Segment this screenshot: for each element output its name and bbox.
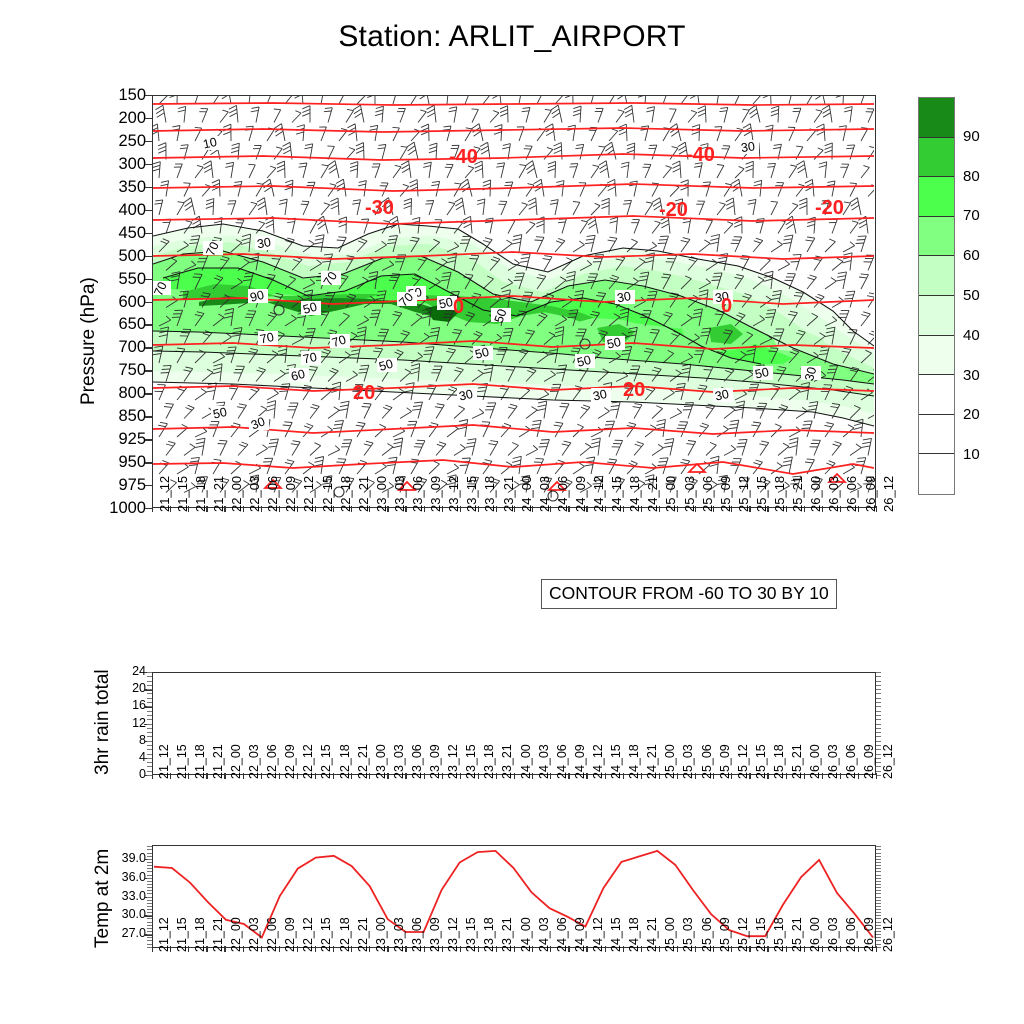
time-tick bbox=[840, 946, 841, 952]
time-tick bbox=[623, 773, 624, 779]
time-tick bbox=[514, 773, 515, 779]
time-tick bbox=[858, 773, 859, 779]
time-tick-label: 26_06 bbox=[844, 744, 858, 779]
time-tick bbox=[514, 506, 515, 512]
colorbar-band[interactable] bbox=[919, 98, 954, 138]
svg-text:0: 0 bbox=[721, 295, 732, 317]
time-tick bbox=[478, 773, 479, 779]
time-tick-label: 24_12 bbox=[591, 744, 605, 779]
time-tick-label: 23_21 bbox=[500, 917, 514, 952]
time-tick-label: 23_21 bbox=[500, 744, 514, 779]
time-tick bbox=[387, 773, 388, 779]
time-tick-label: 23_03 bbox=[392, 744, 406, 779]
svg-text:70: 70 bbox=[259, 330, 276, 347]
time-tick-label: 26_12 bbox=[881, 917, 895, 952]
page-title: Station: ARLIT_AIRPORT bbox=[0, 20, 1024, 54]
temp-tick-label: 36.0 bbox=[86, 871, 146, 884]
svg-text:30: 30 bbox=[592, 387, 609, 404]
time-tick bbox=[279, 506, 280, 512]
temp-tick-label: 30.0 bbox=[86, 908, 146, 921]
time-tick bbox=[424, 946, 425, 952]
colorbar-band[interactable] bbox=[919, 138, 954, 178]
time-tick bbox=[496, 773, 497, 779]
rain-minor-tick bbox=[147, 762, 152, 763]
time-tick-label: 22_03 bbox=[247, 917, 261, 952]
time-tick-label: 22_15 bbox=[319, 917, 333, 952]
time-tick-label: 22_18 bbox=[338, 744, 352, 779]
time-tick-label: 24_03 bbox=[537, 744, 551, 779]
time-tick bbox=[550, 506, 551, 512]
pressure-tick-label: 500 bbox=[88, 248, 146, 265]
temp-minor-tick bbox=[147, 890, 152, 891]
time-tick-label: 26_06 bbox=[844, 917, 858, 952]
temp-minor-tick bbox=[876, 846, 881, 847]
pressure-tick bbox=[145, 439, 152, 440]
time-tick bbox=[424, 506, 425, 512]
time-tick bbox=[876, 946, 877, 952]
time-tick bbox=[405, 506, 406, 512]
time-tick bbox=[731, 946, 732, 952]
temp-minor-tick bbox=[147, 906, 152, 907]
temp-minor-tick bbox=[147, 897, 152, 898]
time-tick-label: 24_21 bbox=[645, 744, 659, 779]
temp-minor-tick bbox=[147, 937, 152, 938]
time-tick-label: 24_06 bbox=[555, 744, 569, 779]
time-tick-label: 24_15 bbox=[609, 917, 623, 952]
colorbar-band[interactable] bbox=[919, 336, 954, 376]
time-tick bbox=[659, 946, 660, 952]
temp-minor-tick bbox=[147, 934, 152, 935]
rain-minor-tick bbox=[147, 719, 152, 720]
time-tick bbox=[188, 506, 189, 512]
time-tick bbox=[315, 773, 316, 779]
time-tick-label: 26_00 bbox=[808, 917, 822, 952]
time-tick-label: 24_21 bbox=[645, 917, 659, 952]
rain-tick-label: 4 bbox=[96, 751, 146, 764]
time-tick bbox=[659, 773, 660, 779]
time-tick bbox=[858, 506, 859, 512]
temp-minor-tick bbox=[147, 944, 152, 945]
colorbar-tick-label: 40 bbox=[963, 327, 980, 344]
temp-minor-tick bbox=[147, 856, 152, 857]
time-tick bbox=[351, 506, 352, 512]
temp-minor-tick bbox=[147, 878, 152, 879]
temp-minor-tick bbox=[876, 856, 881, 857]
colorbar-band[interactable] bbox=[919, 454, 954, 494]
rain-minor-tick bbox=[876, 702, 881, 703]
time-tick-label: 22_00 bbox=[229, 917, 243, 952]
colorbar-tick-label: 10 bbox=[963, 446, 980, 463]
rain-minor-tick bbox=[876, 741, 881, 742]
time-tick bbox=[152, 506, 153, 512]
pressure-tick bbox=[145, 393, 152, 394]
temp-minor-tick bbox=[876, 865, 881, 866]
time-tick-label: 23_18 bbox=[482, 744, 496, 779]
pressure-tick bbox=[145, 187, 152, 188]
rain-minor-tick bbox=[147, 711, 152, 712]
temp-tick-label: 39.0 bbox=[86, 852, 146, 865]
svg-text:-40: -40 bbox=[449, 146, 478, 168]
temp-minor-tick bbox=[147, 887, 152, 888]
temp-minor-tick bbox=[876, 862, 881, 863]
time-tick-label: 25_00 bbox=[663, 917, 677, 952]
rain-minor-tick bbox=[147, 736, 152, 737]
time-tick bbox=[206, 773, 207, 779]
time-tick-label: 21_18 bbox=[193, 917, 207, 952]
pressure-tick bbox=[145, 256, 152, 257]
temp-minor-tick bbox=[876, 903, 881, 904]
time-tick bbox=[749, 506, 750, 512]
time-tick-label: 25_06 bbox=[700, 744, 714, 779]
time-tick bbox=[405, 773, 406, 779]
time-tick bbox=[695, 946, 696, 952]
temp-minor-tick bbox=[876, 853, 881, 854]
temp-minor-tick bbox=[876, 897, 881, 898]
temp-minor-tick bbox=[147, 846, 152, 847]
temp-minor-tick bbox=[147, 859, 152, 860]
pressure-tick bbox=[145, 416, 152, 417]
pressure-tick-label: 450 bbox=[88, 225, 146, 242]
time-tick bbox=[677, 946, 678, 952]
svg-text:50: 50 bbox=[438, 295, 455, 312]
time-tick-label: 24_09 bbox=[573, 917, 587, 952]
svg-text:-20: -20 bbox=[815, 197, 844, 219]
time-tick-label: 23_06 bbox=[410, 744, 424, 779]
colorbar-tick-label: 30 bbox=[963, 367, 980, 384]
sounding-time-section-plot[interactable]: 10 90 50 70 30 70 70 50 70 70 70 70 50 5… bbox=[152, 95, 876, 508]
rain-minor-tick bbox=[876, 728, 881, 729]
time-tick bbox=[804, 773, 805, 779]
time-tick bbox=[460, 773, 461, 779]
time-tick bbox=[731, 506, 732, 512]
time-tick bbox=[460, 506, 461, 512]
temp-minor-tick bbox=[876, 875, 881, 876]
time-tick-label: 25_21 bbox=[790, 744, 804, 779]
time-tick bbox=[496, 506, 497, 512]
svg-text:20: 20 bbox=[353, 382, 375, 404]
pressure-tick bbox=[145, 233, 152, 234]
time-tick bbox=[786, 946, 787, 952]
time-tick bbox=[586, 773, 587, 779]
time-tick bbox=[713, 946, 714, 952]
time-tick bbox=[514, 946, 515, 952]
time-tick bbox=[315, 506, 316, 512]
time-tick bbox=[876, 506, 877, 512]
time-tick-label: 23_00 bbox=[374, 744, 388, 779]
time-tick bbox=[568, 946, 569, 952]
time-tick-label: 23_18 bbox=[482, 917, 496, 952]
time-tick bbox=[822, 506, 823, 512]
svg-text:30: 30 bbox=[616, 289, 632, 305]
time-tick bbox=[695, 506, 696, 512]
time-tick bbox=[170, 773, 171, 779]
rain-minor-tick bbox=[147, 715, 152, 716]
time-tick-label: 22_21 bbox=[356, 917, 370, 952]
temp-minor-tick bbox=[876, 878, 881, 879]
time-tick-label: 23_15 bbox=[464, 744, 478, 779]
pressure-tick-label: 400 bbox=[88, 202, 146, 219]
time-tick bbox=[767, 506, 768, 512]
rain-minor-tick bbox=[147, 693, 152, 694]
rain-minor-tick bbox=[147, 732, 152, 733]
time-tick bbox=[840, 773, 841, 779]
svg-text:10: 10 bbox=[202, 135, 219, 152]
time-tick-label: 22_12 bbox=[301, 744, 315, 779]
rain-minor-tick bbox=[147, 758, 152, 759]
temp-tick-label: 27.0 bbox=[86, 927, 146, 940]
temp-minor-tick bbox=[876, 868, 881, 869]
time-tick-label: 21_12 bbox=[157, 744, 171, 779]
time-tick bbox=[532, 506, 533, 512]
time-tick bbox=[677, 773, 678, 779]
svg-text:30: 30 bbox=[714, 387, 731, 404]
pressure-tick bbox=[145, 347, 152, 348]
temp-minor-tick bbox=[147, 871, 152, 872]
time-tick bbox=[804, 506, 805, 512]
time-tick bbox=[840, 506, 841, 512]
temp-minor-tick bbox=[147, 925, 152, 926]
time-tick bbox=[822, 773, 823, 779]
time-tick bbox=[279, 773, 280, 779]
time-tick bbox=[568, 773, 569, 779]
time-tick bbox=[152, 773, 153, 779]
rain-minor-tick bbox=[147, 749, 152, 750]
colorbar-band[interactable] bbox=[919, 375, 954, 415]
time-tick-label: 21_18 bbox=[193, 744, 207, 779]
rain-tick-label: 0 bbox=[96, 768, 146, 781]
colorbar-tick-label: 50 bbox=[963, 287, 980, 304]
pressure-tick-label: 300 bbox=[88, 156, 146, 173]
temp-minor-tick bbox=[147, 868, 152, 869]
time-tick bbox=[224, 506, 225, 512]
svg-text:20: 20 bbox=[623, 379, 645, 401]
time-tick bbox=[478, 506, 479, 512]
time-tick bbox=[478, 946, 479, 952]
colorbar-band[interactable] bbox=[919, 217, 954, 257]
time-tick bbox=[261, 946, 262, 952]
time-tick-label: 26_12 bbox=[881, 744, 895, 779]
time-tick bbox=[804, 946, 805, 952]
temp-minor-tick bbox=[876, 893, 881, 894]
temp-minor-tick bbox=[147, 875, 152, 876]
time-tick-label: 25_09 bbox=[718, 917, 732, 952]
temp-minor-tick bbox=[147, 865, 152, 866]
colorbar-tick-label: 70 bbox=[963, 207, 980, 224]
time-tick bbox=[605, 773, 606, 779]
time-tick bbox=[659, 506, 660, 512]
time-tick bbox=[749, 773, 750, 779]
time-tick-label: 22_12 bbox=[301, 917, 315, 952]
rain-minor-tick bbox=[147, 685, 152, 686]
time-tick-label: 23_12 bbox=[446, 744, 460, 779]
time-tick bbox=[568, 506, 569, 512]
rain-minor-tick bbox=[876, 672, 881, 673]
colorbar-band[interactable] bbox=[919, 256, 954, 296]
time-tick-label: 22_21 bbox=[356, 744, 370, 779]
temp-minor-tick bbox=[147, 903, 152, 904]
temp-minor-tick bbox=[147, 928, 152, 929]
time-tick bbox=[442, 773, 443, 779]
time-tick-label: 24_12 bbox=[591, 917, 605, 952]
time-tick-label: 25_15 bbox=[754, 917, 768, 952]
temp-minor-tick bbox=[147, 862, 152, 863]
time-tick-label: 23_06 bbox=[410, 917, 424, 952]
svg-text:-30: -30 bbox=[365, 197, 394, 219]
time-tick bbox=[767, 946, 768, 952]
time-tick bbox=[170, 506, 171, 512]
time-tick bbox=[605, 506, 606, 512]
pressure-tick-label: 925 bbox=[88, 431, 146, 448]
time-tick bbox=[749, 946, 750, 952]
time-tick bbox=[767, 773, 768, 779]
time-tick bbox=[333, 506, 334, 512]
pressure-tick bbox=[145, 164, 152, 165]
humidity-colorbar[interactable] bbox=[918, 97, 955, 495]
time-tick bbox=[315, 946, 316, 952]
time-tick bbox=[387, 506, 388, 512]
rain-minor-tick bbox=[876, 736, 881, 737]
time-tick bbox=[496, 946, 497, 952]
rain-minor-tick bbox=[147, 745, 152, 746]
rain-minor-tick bbox=[876, 711, 881, 712]
time-tick bbox=[713, 506, 714, 512]
time-tick-label: 24_18 bbox=[627, 744, 641, 779]
pressure-tick bbox=[145, 141, 152, 142]
svg-text:0: 0 bbox=[453, 296, 464, 318]
pressure-tick-label: 250 bbox=[88, 133, 146, 150]
time-tick-label: 25_00 bbox=[663, 744, 677, 779]
temp-minor-tick bbox=[876, 900, 881, 901]
time-tick bbox=[206, 946, 207, 952]
time-tick bbox=[641, 506, 642, 512]
time-tick bbox=[351, 773, 352, 779]
rain-minor-tick bbox=[147, 724, 152, 725]
time-tick bbox=[623, 946, 624, 952]
time-tick-label: 26_03 bbox=[826, 917, 840, 952]
time-tick-label: 22_03 bbox=[247, 744, 261, 779]
time-tick-label: 23_09 bbox=[428, 917, 442, 952]
time-tick bbox=[586, 506, 587, 512]
pressure-tick bbox=[145, 95, 152, 96]
colorbar-band[interactable] bbox=[919, 296, 954, 336]
temp-minor-tick bbox=[876, 859, 881, 860]
svg-text:50: 50 bbox=[212, 405, 229, 422]
temp-minor-tick bbox=[147, 900, 152, 901]
time-tick bbox=[786, 773, 787, 779]
time-tick bbox=[713, 773, 714, 779]
rain-tick-label: 8 bbox=[96, 734, 146, 747]
time-tick bbox=[858, 946, 859, 952]
svg-text:-20: -20 bbox=[659, 199, 688, 221]
pressure-axis-title: Pressure (hPa) bbox=[78, 277, 100, 405]
time-tick bbox=[532, 946, 533, 952]
rain-minor-tick bbox=[147, 702, 152, 703]
time-tick-label: 24_00 bbox=[519, 917, 533, 952]
temp-minor-tick bbox=[147, 881, 152, 882]
time-tick bbox=[822, 946, 823, 952]
time-tick bbox=[333, 946, 334, 952]
pressure-tick-label: 850 bbox=[88, 408, 146, 425]
temp-tick-label: 33.0 bbox=[86, 890, 146, 903]
pressure-tick bbox=[145, 485, 152, 486]
rain-minor-tick bbox=[147, 676, 152, 677]
time-tick-label: 25_12 bbox=[736, 917, 750, 952]
time-tick-label: 21_12 bbox=[157, 917, 171, 952]
rain-minor-tick bbox=[876, 689, 881, 690]
pressure-tick-label: 350 bbox=[88, 179, 146, 196]
time-tick bbox=[333, 773, 334, 779]
time-tick-label: 25_15 bbox=[754, 744, 768, 779]
time-tick bbox=[442, 946, 443, 952]
temp-minor-tick bbox=[147, 940, 152, 941]
time-tick-label: 25_12 bbox=[736, 744, 750, 779]
time-tick-label: 22_06 bbox=[265, 917, 279, 952]
time-tick-label: 23_09 bbox=[428, 744, 442, 779]
rain-tick-label: 12 bbox=[96, 717, 146, 730]
rain-tick-label: 16 bbox=[96, 699, 146, 712]
time-tick-label: 23_00 bbox=[374, 917, 388, 952]
temp-minor-tick bbox=[876, 871, 881, 872]
temp-minor-tick bbox=[147, 918, 152, 919]
pressure-tick bbox=[145, 302, 152, 303]
time-tick-label: 22_18 bbox=[338, 917, 352, 952]
time-tick bbox=[279, 946, 280, 952]
colorbar-band[interactable] bbox=[919, 177, 954, 217]
temp-minor-tick bbox=[147, 853, 152, 854]
temp-minor-tick bbox=[147, 909, 152, 910]
time-tick-label: 21_15 bbox=[175, 917, 189, 952]
main-plot-canvas: 10 90 50 70 30 70 70 50 70 70 70 70 50 5… bbox=[153, 96, 874, 506]
time-tick-label: 25_03 bbox=[681, 917, 695, 952]
time-tick bbox=[351, 946, 352, 952]
time-tick bbox=[623, 506, 624, 512]
rain-minor-tick bbox=[147, 771, 152, 772]
rain-minor-tick bbox=[147, 689, 152, 690]
temp-minor-tick bbox=[147, 849, 152, 850]
colorbar-band[interactable] bbox=[919, 415, 954, 455]
time-tick bbox=[876, 773, 877, 779]
time-tick-label: 23_03 bbox=[392, 917, 406, 952]
time-tick-label: 22_09 bbox=[283, 744, 297, 779]
pressure-tick bbox=[145, 210, 152, 211]
time-tick bbox=[387, 946, 388, 952]
colorbar-tick-label: 20 bbox=[963, 406, 980, 423]
temp-minor-tick bbox=[876, 881, 881, 882]
time-tick bbox=[243, 946, 244, 952]
pressure-tick-label: 975 bbox=[88, 477, 146, 494]
pressure-tick-label: 150 bbox=[88, 87, 146, 104]
time-tick bbox=[152, 946, 153, 952]
pressure-tick bbox=[145, 370, 152, 371]
time-tick bbox=[188, 946, 189, 952]
time-tick-label: 24_06 bbox=[555, 917, 569, 952]
time-tick bbox=[550, 946, 551, 952]
time-tick-label: 25_18 bbox=[772, 917, 786, 952]
time-tick bbox=[405, 946, 406, 952]
time-tick bbox=[261, 506, 262, 512]
time-tick-label: 22_06 bbox=[265, 744, 279, 779]
temp-minor-tick bbox=[147, 915, 152, 916]
temp-minor-tick bbox=[876, 909, 881, 910]
temp-minor-tick bbox=[147, 931, 152, 932]
time-tick-label: 21_21 bbox=[211, 917, 225, 952]
time-tick bbox=[605, 946, 606, 952]
rain-minor-tick bbox=[876, 715, 881, 716]
pressure-tick-label: 950 bbox=[88, 454, 146, 471]
time-tick bbox=[369, 506, 370, 512]
time-tick bbox=[297, 506, 298, 512]
time-tick-label: 26_09 bbox=[862, 744, 876, 779]
